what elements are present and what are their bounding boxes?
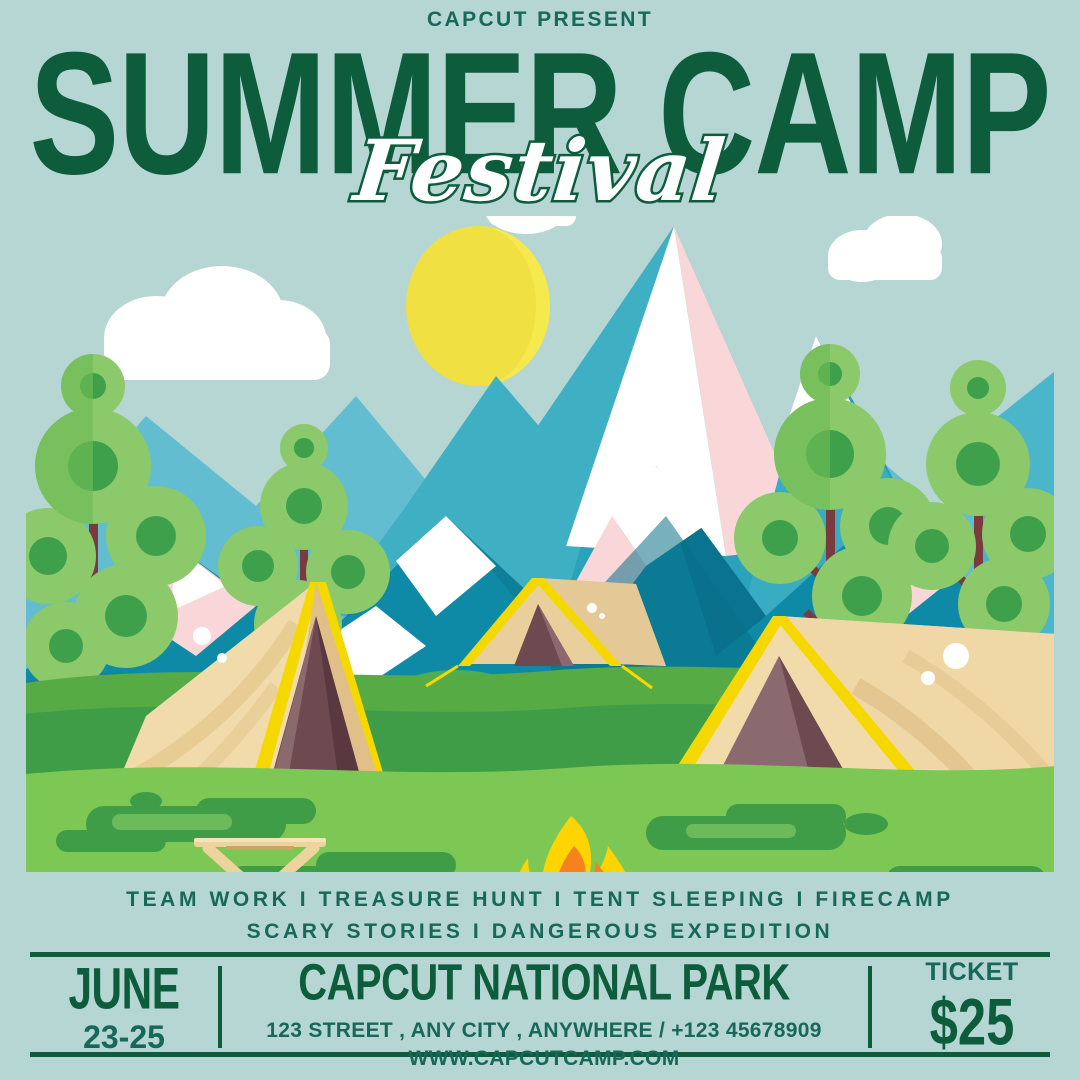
venue-address: 123 STREET , ANY CITY , ANYWHERE / +123 …	[224, 1016, 864, 1046]
event-month: JUNE	[41, 960, 207, 1016]
footer-divider-left	[218, 966, 222, 1048]
activities-list: TEAM WORK I TREASURE HUNT I TENT SLEEPIN…	[0, 884, 1080, 948]
venue-website[interactable]: WWW.CAPCUTCAMP.COM	[224, 1046, 864, 1072]
ticket-info: TICKET $25	[872, 958, 1072, 1042]
festival-script-title: Festival	[0, 129, 1080, 213]
festival-script-text: Festival	[351, 129, 729, 213]
ticket-price: $25	[878, 992, 1066, 1053]
event-date: JUNE 23-25	[34, 960, 214, 1054]
poster-root: CAPCUT PRESENT SUMMER CAMP Festival	[0, 0, 1080, 1080]
activities-line-2: SCARY STORIES I DANGEROUS EXPEDITION	[0, 916, 1080, 948]
camp-illustration	[26, 216, 1054, 872]
activities-line-1: TEAM WORK I TREASURE HUNT I TENT SLEEPIN…	[0, 884, 1080, 916]
event-venue: CAPCUT NATIONAL PARK 123 STREET , ANY CI…	[224, 958, 864, 1072]
ticket-label: TICKET	[872, 958, 1072, 986]
venue-name: CAPCUT NATIONAL PARK	[240, 958, 848, 1007]
event-days: 23-25	[34, 1020, 214, 1054]
